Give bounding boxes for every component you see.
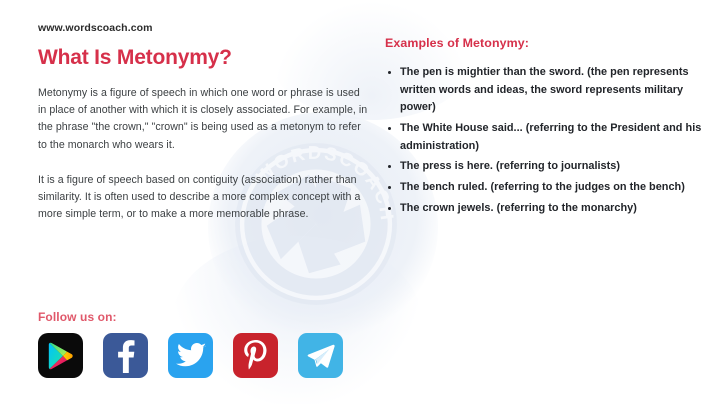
facebook-icon[interactable] (103, 333, 148, 378)
right-column: Examples of Metonymy: The pen is mightie… (385, 36, 703, 220)
google-play-icon[interactable] (38, 333, 83, 378)
bullet-dot-icon (388, 127, 391, 130)
list-item: The bench ruled. (referring to the judge… (385, 179, 703, 197)
bullet-dot-icon (388, 165, 391, 168)
examples-list: The pen is mightier than the sword. (the… (385, 64, 703, 217)
bullet-dot-icon (388, 207, 391, 210)
bullet-dot-icon (388, 186, 391, 189)
site-url: www.wordscoach.com (38, 22, 368, 34)
list-item: The White House said... (referring to th… (385, 120, 703, 155)
pinterest-icon[interactable] (233, 333, 278, 378)
list-item: The press is here. (referring to journal… (385, 158, 703, 176)
list-item: The crown jewels. (referring to the mona… (385, 200, 703, 218)
list-item: The pen is mightier than the sword. (the… (385, 64, 703, 117)
bullet-dot-icon (388, 71, 391, 74)
infographic-page: WORDSCOACH www.wordscoach.com What Is Me… (0, 0, 720, 404)
list-item-text: The pen is mightier than the sword. (the… (400, 66, 689, 113)
follow-us-label: Follow us on: (38, 310, 343, 324)
list-item-text: The White House said... (referring to th… (400, 122, 701, 152)
examples-heading: Examples of Metonymy: (385, 36, 703, 50)
list-item-text: The bench ruled. (referring to the judge… (400, 181, 685, 193)
twitter-icon[interactable] (168, 333, 213, 378)
list-item-text: The press is here. (referring to journal… (400, 160, 620, 172)
definition-paragraph-1: Metonymy is a figure of speech in which … (38, 85, 368, 154)
left-column: www.wordscoach.com What Is Metonymy? Met… (38, 22, 368, 223)
telegram-icon[interactable] (298, 333, 343, 378)
definition-paragraph-2: It is a figure of speech based on contig… (38, 172, 368, 223)
social-icon-row (38, 333, 343, 378)
follow-us-section: Follow us on: (38, 310, 343, 378)
page-title: What Is Metonymy? (38, 46, 368, 69)
list-item-text: The crown jewels. (referring to the mona… (400, 202, 637, 214)
